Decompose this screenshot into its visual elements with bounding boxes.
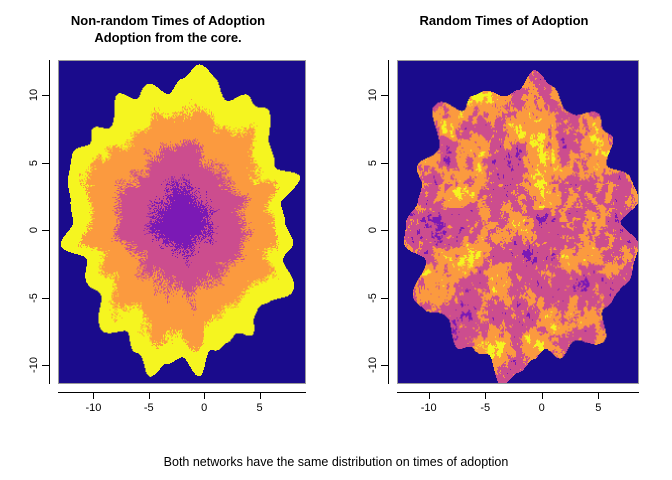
y-tick-label-left-3: -5	[27, 268, 41, 328]
y-tick-right-0	[381, 95, 388, 96]
panel-title-non-random: Non-random Times of Adoption Adoption fr…	[0, 12, 336, 46]
x-tick-label-right-1: -5	[455, 402, 515, 414]
figure-caption: Both networks have the same distribution…	[0, 455, 672, 469]
heatmap-canvas-non-random	[59, 61, 305, 383]
y-tick-label-right-3: -5	[366, 268, 380, 328]
y-tick-label-left-4: -10	[27, 335, 41, 395]
x-tick-right-2	[542, 392, 543, 399]
y-tick-label-right-4: -10	[366, 335, 380, 395]
y-tick-left-1	[42, 163, 49, 164]
y-axis-line-right	[388, 60, 389, 384]
y-tick-right-4	[381, 365, 388, 366]
x-tick-label-left-3: 5	[230, 402, 290, 414]
x-tick-left-2	[204, 392, 205, 399]
x-tick-right-0	[429, 392, 430, 399]
heatmap-canvas-random	[398, 61, 638, 383]
x-tick-label-right-2: 0	[512, 402, 572, 414]
y-tick-right-2	[381, 230, 388, 231]
x-axis-line-right	[397, 392, 639, 393]
y-tick-right-1	[381, 163, 388, 164]
x-tick-left-3	[260, 392, 261, 399]
x-tick-label-right-0: -10	[399, 402, 459, 414]
y-tick-label-right-0: 10	[366, 65, 380, 125]
y-tick-label-right-2: 0	[366, 200, 380, 260]
y-tick-label-left-1: 5	[27, 133, 41, 193]
x-tick-right-1	[485, 392, 486, 399]
y-tick-label-left-0: 10	[27, 65, 41, 125]
y-tick-left-4	[42, 365, 49, 366]
plot-area-non-random	[58, 60, 306, 384]
x-tick-left-1	[149, 392, 150, 399]
x-tick-label-right-3: 5	[568, 402, 628, 414]
figure-root: Non-random Times of Adoption Adoption fr…	[0, 0, 672, 480]
x-tick-right-3	[598, 392, 599, 399]
y-axis-line-left	[49, 60, 50, 384]
x-tick-label-left-2: 0	[174, 402, 234, 414]
y-tick-left-2	[42, 230, 49, 231]
y-tick-label-left-2: 0	[27, 200, 41, 260]
x-tick-left-0	[93, 392, 94, 399]
x-tick-label-left-0: -10	[63, 402, 123, 414]
plot-area-random	[397, 60, 639, 384]
y-tick-label-right-1: 5	[366, 133, 380, 193]
y-tick-left-0	[42, 95, 49, 96]
panel-title-random: Random Times of Adoption	[336, 12, 672, 29]
y-tick-left-3	[42, 298, 49, 299]
x-axis-line-left	[58, 392, 306, 393]
y-tick-right-3	[381, 298, 388, 299]
x-tick-label-left-1: -5	[119, 402, 179, 414]
